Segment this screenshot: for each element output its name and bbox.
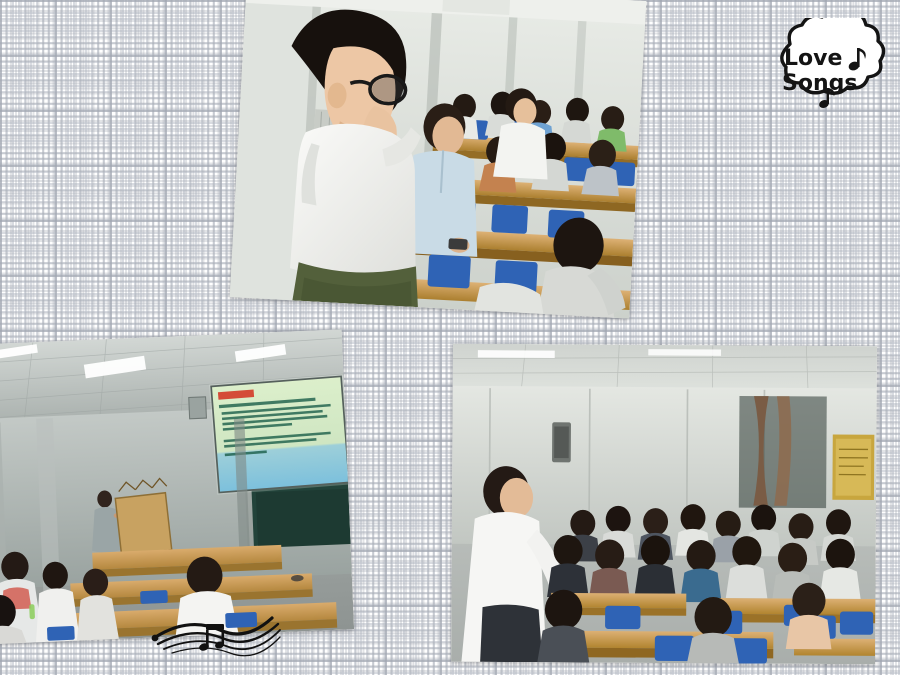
- photo-classroom-audience-wide[interactable]: [451, 344, 877, 665]
- bubble-line-2: Songs: [782, 71, 857, 96]
- photo-image-classroom-projector: [0, 329, 354, 644]
- music-staff-swirl: [146, 606, 286, 664]
- staff-end-dot: [152, 635, 159, 642]
- photo-frame: [451, 344, 877, 665]
- photo-image-lecture-speaker: [230, 0, 647, 319]
- scrapbook-page: Love Songs: [0, 0, 900, 675]
- photo-lecture-speaker-closeup[interactable]: [230, 0, 647, 319]
- photo-image-classroom-audience: [451, 344, 877, 665]
- photo-frame: [0, 329, 354, 644]
- love-songs-speech-bubble: Love Songs: [762, 18, 886, 116]
- photo-frame: [230, 0, 647, 319]
- photo-classroom-projector-screen[interactable]: [0, 329, 354, 644]
- bubble-line-1: Love: [784, 46, 842, 71]
